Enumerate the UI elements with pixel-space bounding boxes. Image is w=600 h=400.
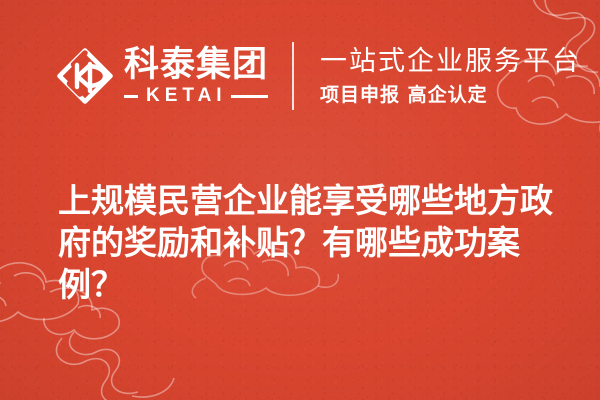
logo-en-row: KETAI	[124, 86, 268, 106]
brand-header: 科泰集团 KETAI 一站式企业服务平台 项目申报 高企认定	[56, 34, 581, 118]
header-vertical-divider	[292, 42, 294, 110]
tagline-primary: 一站式企业服务平台	[320, 45, 581, 79]
tagline-secondary: 项目申报 高企认定	[320, 82, 581, 108]
article-title: 上规模民营企业能享受哪些地方政府的奖励和补贴？有哪些成功案例？	[58, 180, 558, 306]
header-taglines: 一站式企业服务平台 项目申报 高企认定	[320, 45, 581, 108]
logo-lockup[interactable]: 科泰集团 KETAI	[56, 46, 268, 106]
logo-wordmark: 科泰集团 KETAI	[124, 46, 268, 106]
article-cover-banner: 科泰集团 KETAI 一站式企业服务平台 项目申报 高企认定 上规模民营企业能享…	[0, 0, 600, 400]
logo-company-name-en: KETAI	[138, 86, 231, 106]
logo-rule-right	[231, 95, 268, 98]
logo-company-name-cn: 科泰集团	[124, 46, 268, 84]
ketai-diamond-kd-monogram-icon	[56, 47, 114, 105]
logo-rule-left	[124, 95, 138, 98]
